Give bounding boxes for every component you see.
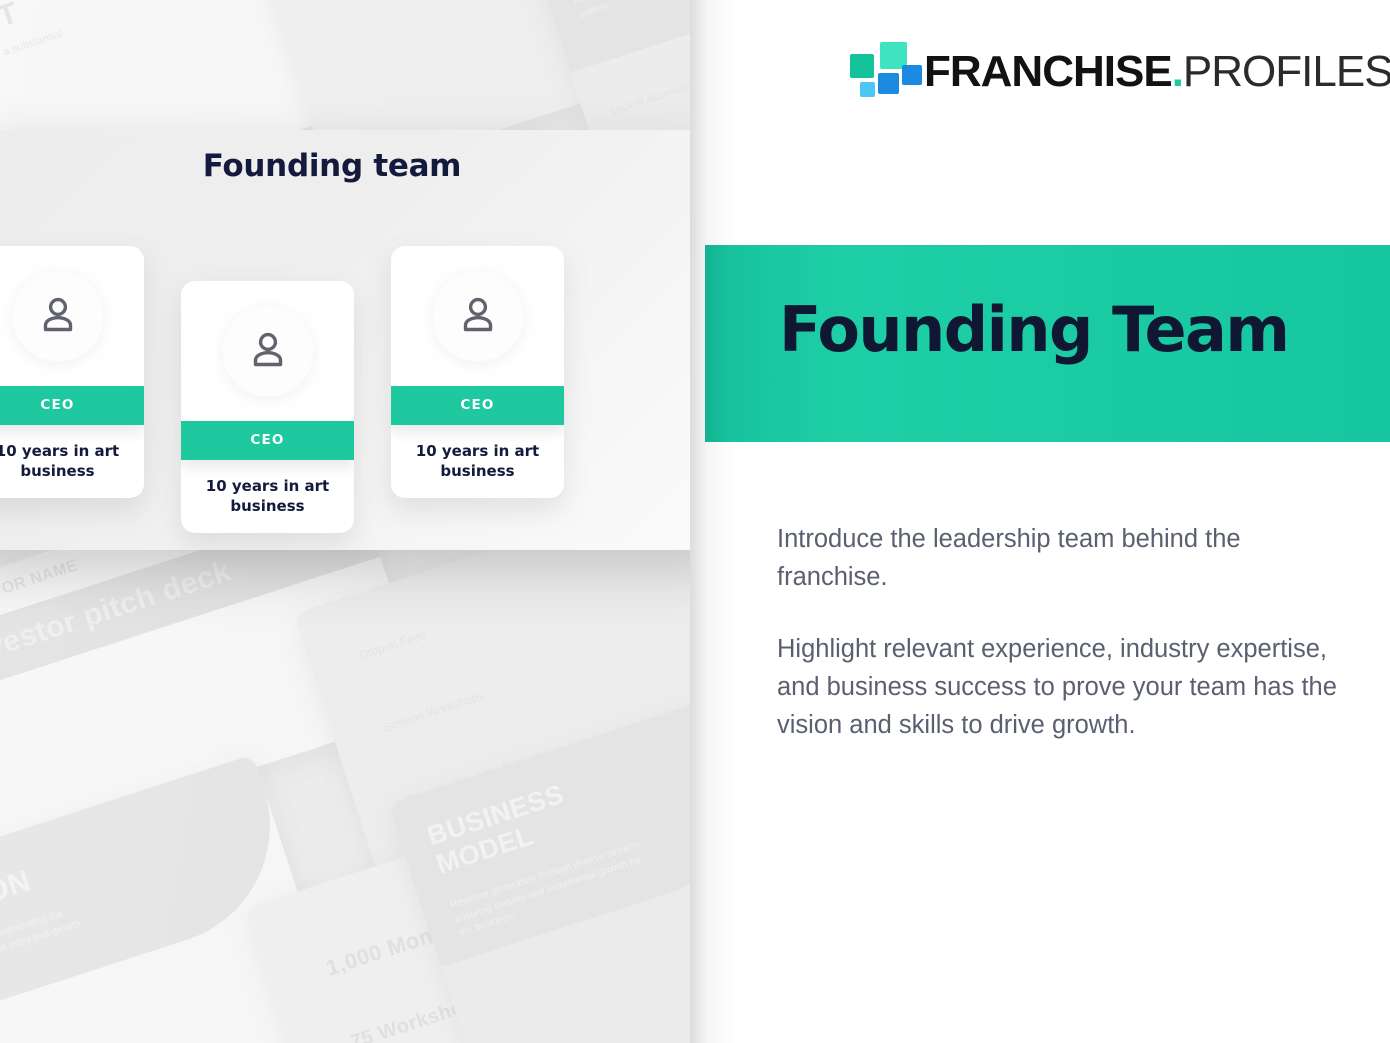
- logo-square-blue: [878, 73, 899, 94]
- logo-square-blue-light: [860, 82, 875, 97]
- logo-wordmark: FRANCHISE.PROFILES: [924, 50, 1390, 94]
- description-paragraph-2: Highlight relevant experience, industry …: [777, 631, 1342, 745]
- avatar: [0, 246, 144, 386]
- team-member-role: CEO: [181, 421, 354, 460]
- person-icon: [246, 329, 290, 373]
- avatar-circle: [432, 270, 524, 362]
- team-member-row: CEO 10 years in art business CEO 10 year…: [0, 130, 706, 550]
- avatar: [391, 246, 564, 386]
- slide-preview-card[interactable]: Founding team CEO 10 years in art busine…: [0, 130, 706, 550]
- avatar-circle: [222, 305, 314, 397]
- team-member-card[interactable]: CEO 10 years in art business: [391, 246, 564, 498]
- title-banner: Founding Team: [705, 245, 1390, 442]
- avatar-circle: [12, 270, 104, 362]
- ghost-slide-caption: Drop-in Fees: [357, 627, 428, 665]
- team-member-role: CEO: [391, 386, 564, 425]
- logo-square-green-dark: [850, 54, 874, 78]
- ghost-slide-caption: Session Workshops: [381, 688, 487, 737]
- person-icon: [36, 294, 80, 338]
- avatar: [181, 281, 354, 421]
- team-member-card[interactable]: CEO 10 years in art business: [181, 281, 354, 533]
- team-member-bio: 10 years in art business: [391, 425, 564, 482]
- team-member-card[interactable]: CEO 10 years in art business: [0, 246, 144, 498]
- person-icon: [456, 294, 500, 338]
- logo-mark-icon: [850, 42, 906, 102]
- ghost-slide-caption: Lack of Accessibility: [608, 68, 690, 120]
- description-text: Introduce the leadership team behind the…: [777, 521, 1342, 745]
- page-title: Founding Team: [779, 293, 1289, 366]
- logo-word-bold: FRANCHISE: [924, 47, 1172, 96]
- slide-template-preview: MARKET ...ces in urban and ... a substan…: [0, 0, 1390, 1043]
- logo-square-blue-right: [902, 65, 922, 85]
- franchise-profiles-logo[interactable]: FRANCHISE.PROFILES: [850, 42, 1390, 102]
- team-member-bio: 10 years in art business: [0, 425, 144, 482]
- logo-word-dot: .: [1172, 47, 1183, 96]
- team-member-bio: 10 years in art business: [181, 460, 354, 517]
- team-member-role: CEO: [0, 386, 144, 425]
- description-paragraph-1: Introduce the leadership team behind the…: [777, 521, 1342, 597]
- logo-word-light: PROFILES: [1183, 47, 1390, 96]
